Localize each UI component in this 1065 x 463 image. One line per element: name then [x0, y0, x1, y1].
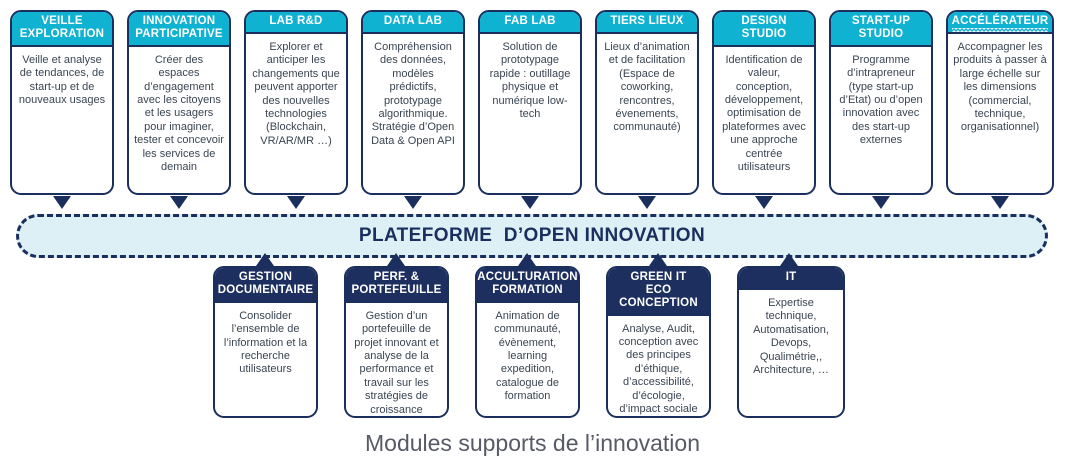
arrow-up-icon: [387, 253, 405, 266]
card-body: Expertise technique, Automatisation, Dev…: [739, 290, 843, 416]
card-body: Explorer et anticiper les changements qu…: [246, 34, 346, 193]
card-body: Animation de communauté, évènement, lear…: [477, 303, 578, 416]
arrow-down-icon: [755, 196, 773, 209]
card-body: Identification de valeur, conception, dé…: [714, 47, 814, 193]
card-body: Compréhension des données, modèles prédi…: [363, 34, 463, 193]
card-title: START-UP STUDIO: [831, 12, 931, 47]
card-start-up-studio[interactable]: START-UP STUDIO Programme d’intrapreneur…: [829, 10, 933, 195]
arrow-down-icon: [521, 196, 539, 209]
card-body: Gestion d’un portefeuille de projet inno…: [346, 303, 447, 418]
arrow-up-icon: [256, 253, 274, 266]
card-body: Programme d’intrapreneur (type start-up …: [831, 47, 931, 193]
platform-banner: PLATEFORME D’OPEN INNOVATION: [16, 214, 1048, 258]
card-it[interactable]: IT Expertise technique, Automatisation, …: [737, 266, 845, 418]
arrow-down-icon: [404, 196, 422, 209]
card-veille-exploration[interactable]: VEILLE EXPLORATION Veille et analyse de …: [10, 10, 114, 195]
card-title: DATA LAB: [363, 12, 463, 34]
card-data-lab[interactable]: DATA LAB Compréhension des données, modè…: [361, 10, 465, 195]
card-body: Consolider l’ensemble de l’information e…: [215, 303, 316, 416]
arrow-down-icon: [991, 196, 1009, 209]
card-title: ACCÉLÉRATEUR: [948, 12, 1052, 34]
platform-label: PLATEFORME D’OPEN INNOVATION: [359, 225, 705, 247]
card-title: GREEN IT ECO CONCEPTION: [608, 268, 709, 316]
card-title: LAB R&D: [246, 12, 346, 34]
card-title-text: ACCÉLÉRATEUR: [952, 15, 1049, 28]
card-green-it-eco-conception[interactable]: GREEN IT ECO CONCEPTION Analyse, Audit, …: [606, 266, 711, 418]
card-title: INNOVATION PARTICIPATIVE: [129, 12, 229, 47]
card-title: PERF. & PORTEFEUILLE: [346, 268, 447, 303]
card-lab-rd[interactable]: LAB R&D Explorer et anticiper les change…: [244, 10, 348, 195]
card-body: Lieux d’animation et de facilitation (Es…: [597, 34, 697, 193]
card-gestion-documentaire[interactable]: GESTION DOCUMENTAIRE Consolider l’ensemb…: [213, 266, 318, 418]
arrow-down-icon: [638, 196, 656, 209]
card-acculturation-formation[interactable]: ACCULTURATION FORMATION Animation de com…: [475, 266, 580, 418]
card-title: IT: [739, 268, 843, 290]
card-accelerateur[interactable]: ACCÉLÉRATEUR Accompagner les produits à …: [946, 10, 1054, 195]
card-title: GESTION DOCUMENTAIRE: [215, 268, 316, 303]
card-fab-lab[interactable]: FAB LAB Solution de prototypage rapide :…: [478, 10, 582, 195]
card-body: Solution de prototypage rapide : outilla…: [480, 34, 580, 193]
card-title: FAB LAB: [480, 12, 580, 34]
card-title: DESIGN STUDIO: [714, 12, 814, 47]
diagram-caption: Modules supports de l’innovation: [0, 430, 1065, 457]
card-title: VEILLE EXPLORATION: [12, 12, 112, 47]
arrow-down-icon: [53, 196, 71, 209]
card-body: Veille et analyse de tendances, de start…: [12, 47, 112, 193]
card-body: Créer des espaces d’engagement avec les …: [129, 47, 229, 193]
card-tiers-lieux[interactable]: TIERS LIEUX Lieux d’animation et de faci…: [595, 10, 699, 195]
diagram-canvas: VEILLE EXPLORATION Veille et analyse de …: [0, 0, 1065, 463]
card-innovation-participative[interactable]: INNOVATION PARTICIPATIVE Créer des espac…: [127, 10, 231, 195]
card-title: ACCULTURATION FORMATION: [477, 268, 578, 303]
card-body: Analyse, Audit, conception avec des prin…: [608, 316, 709, 418]
card-perf-portefeuille[interactable]: PERF. & PORTEFEUILLE Gestion d’un portef…: [344, 266, 449, 418]
arrow-down-icon: [287, 196, 305, 209]
arrow-down-icon: [170, 196, 188, 209]
arrow-up-icon: [780, 253, 798, 266]
arrow-up-icon: [649, 253, 667, 266]
card-title: TIERS LIEUX: [597, 12, 697, 34]
card-design-studio[interactable]: DESIGN STUDIO Identification de valeur, …: [712, 10, 816, 195]
card-body: Accompagner les produits à passer à larg…: [948, 34, 1052, 193]
arrow-down-icon: [872, 196, 890, 209]
arrow-up-icon: [518, 253, 536, 266]
